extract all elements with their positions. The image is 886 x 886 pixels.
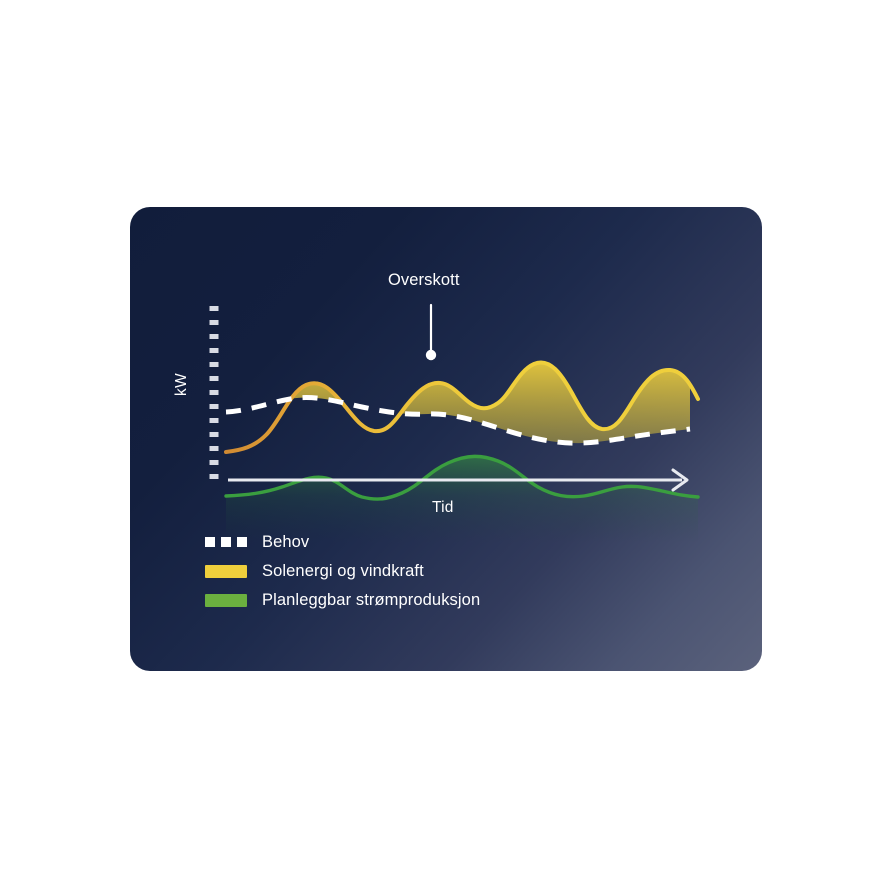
legend-label-behov: Behov	[262, 533, 309, 552]
chart-card: kW Tid Overskott Behov Solenergi og vind…	[130, 207, 762, 671]
x-axis-label: Tid	[432, 499, 454, 517]
y-axis-label: kW	[173, 373, 191, 396]
legend-item-behov[interactable]: Behov	[205, 532, 480, 552]
legend-item-planleggbar[interactable]: Planleggbar strømproduksjon	[205, 590, 480, 610]
legend-item-solenergi[interactable]: Solenergi og vindkraft	[205, 561, 480, 581]
figure-root: kW Tid Overskott Behov Solenergi og vind…	[0, 0, 886, 886]
annotation-overskott-label: Overskott	[388, 271, 460, 290]
legend-swatch-yellow-icon	[205, 565, 247, 578]
green-area-glow	[226, 456, 698, 543]
legend-label-planleggbar: Planleggbar strømproduksjon	[262, 591, 480, 610]
legend-swatch-dashed-icon	[205, 537, 247, 548]
chart-legend: Behov Solenergi og vindkraft Planleggbar…	[205, 532, 480, 610]
legend-label-solenergi: Solenergi og vindkraft	[262, 562, 424, 581]
legend-swatch-green-icon	[205, 594, 247, 607]
annotation-point-dot	[426, 350, 436, 360]
